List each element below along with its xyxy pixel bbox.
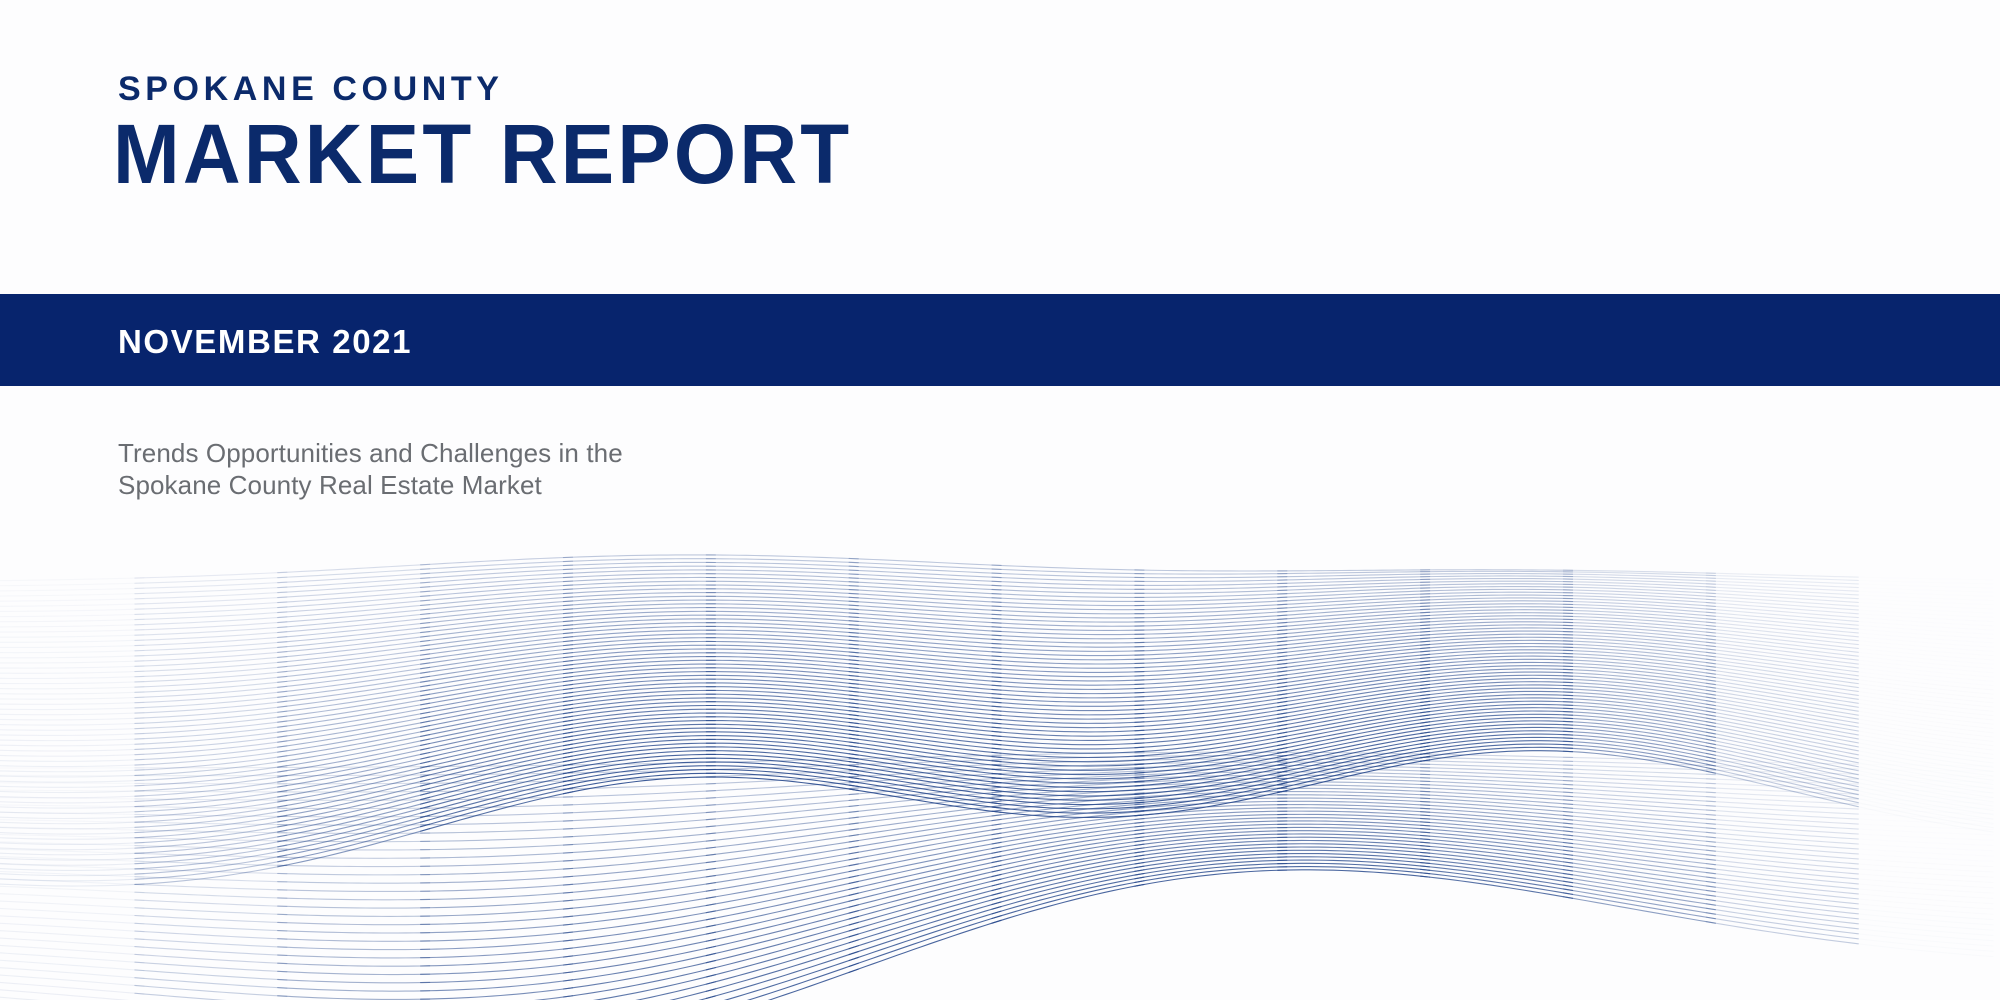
date-band: NOVEMBER 2021: [0, 294, 2000, 386]
subtitle-line-1: Trends Opportunities and Challenges in t…: [118, 438, 623, 470]
subtitle-line-2: Spokane County Real Estate Market: [118, 470, 623, 502]
wave-lines-svg: [0, 430, 2000, 1000]
subtitle: Trends Opportunities and Challenges in t…: [118, 438, 623, 501]
market-report-cover: SPOKANE COUNTY MARKET REPORT NOVEMBER 20…: [0, 0, 2000, 1000]
page-title: MARKET REPORT: [113, 112, 852, 197]
eyebrow-label: SPOKANE COUNTY: [118, 72, 504, 106]
abstract-wave-lines: [0, 430, 2000, 1000]
report-date-label: NOVEMBER 2021: [118, 325, 412, 358]
